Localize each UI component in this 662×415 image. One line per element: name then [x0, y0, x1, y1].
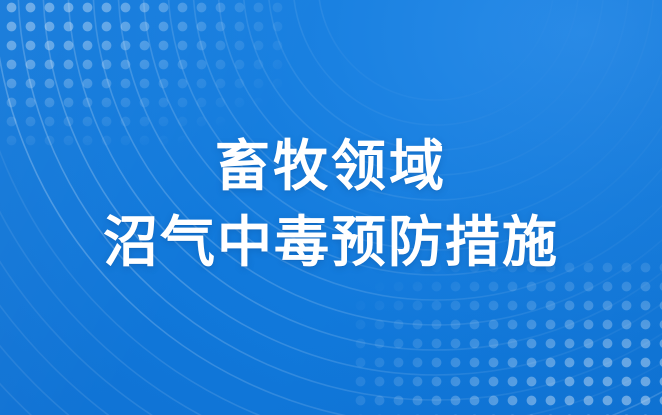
headline-line-2: 沼气中毒预防措施: [103, 207, 559, 277]
headline-line-1: 畜牧领域: [215, 131, 447, 201]
promo-banner: 畜牧领域 沼气中毒预防措施: [0, 0, 662, 415]
banner-headline: 畜牧领域 沼气中毒预防措施: [0, 0, 662, 415]
